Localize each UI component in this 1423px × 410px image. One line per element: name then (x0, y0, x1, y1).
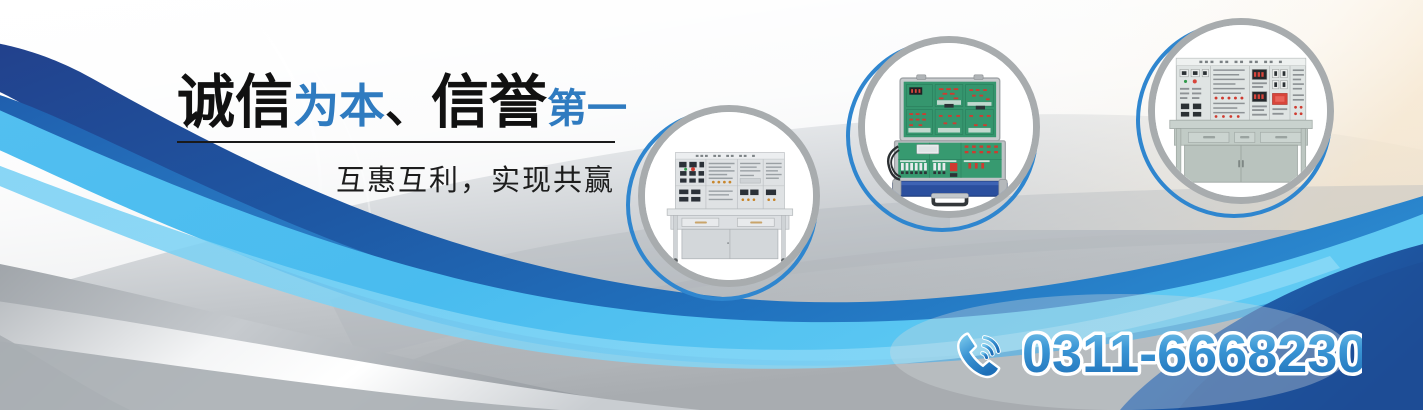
product-badge-3-gray-ring (1148, 18, 1334, 204)
product-badge-2-gray-ring (858, 36, 1040, 218)
product-badge-1-gray-ring (638, 105, 820, 287)
slogan-subtitle: 互惠互利，实现共赢 (177, 157, 615, 199)
headline: 诚信为本、信誉第一 (177, 72, 617, 135)
headline-part-5: 第一 (547, 87, 627, 131)
headline-part-4: 信誉 (431, 70, 547, 135)
promotional-banner: 诚信为本、信誉第一 互惠互利，实现共赢 (0, 0, 1423, 410)
headline-part-2: 为本 (293, 80, 385, 132)
contact-phone-block[interactable]: 0311-66682303 0311-66682303 (952, 322, 1362, 388)
product-image-machine-bench (1155, 25, 1327, 197)
product-badge-2[interactable] (846, 36, 1042, 232)
product-badge-1[interactable] (626, 105, 822, 301)
phone-call-icon (952, 327, 1008, 383)
product-badge-3[interactable] (1136, 18, 1336, 218)
headline-part-3: 、 (385, 80, 431, 132)
phone-number-fill: 0311-66682303 (1022, 324, 1362, 384)
product-image-workbench (645, 112, 813, 280)
slogan-divider (177, 141, 615, 143)
phone-number: 0311-66682303 0311-66682303 (1022, 322, 1362, 388)
slogan-block: 诚信为本、信誉第一 互惠互利，实现共赢 (177, 72, 617, 199)
product-image-training-case (865, 43, 1033, 211)
headline-part-1: 诚信 (177, 70, 293, 135)
